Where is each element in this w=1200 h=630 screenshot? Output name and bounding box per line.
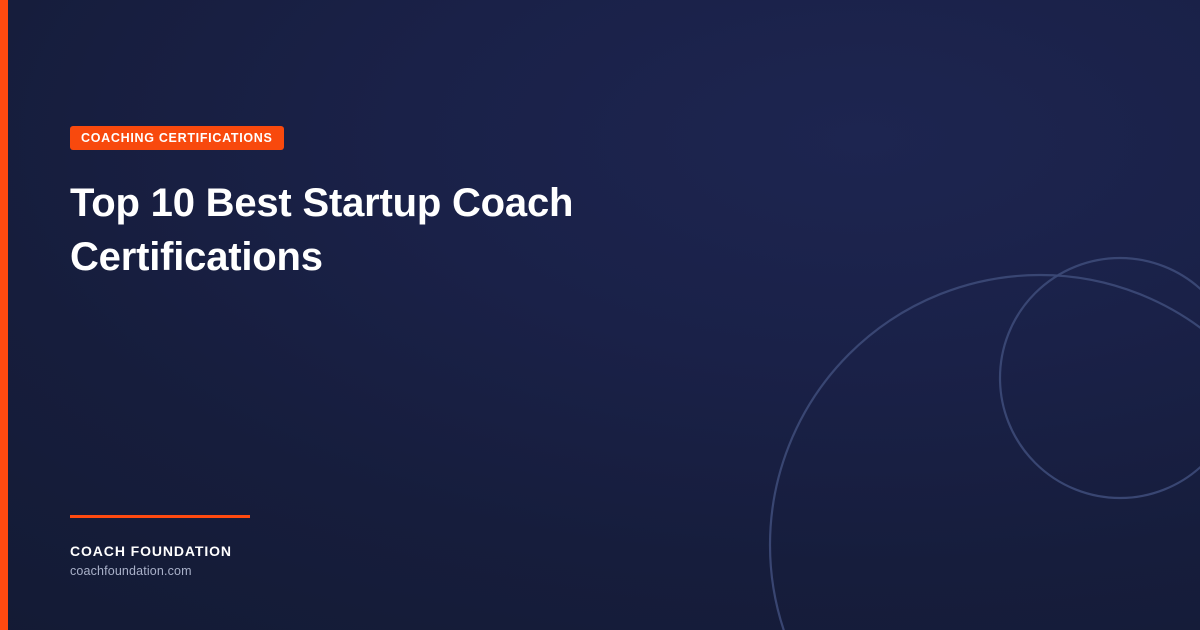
card-content: COACHING CERTIFICATIONS Top 10 Best Star… [0,0,1200,630]
page-title: Top 10 Best Startup Coach Certifications [70,176,710,284]
brand-name: COACH FOUNDATION [70,544,490,558]
category-badge: COACHING CERTIFICATIONS [70,126,284,150]
social-share-card: COACHING CERTIFICATIONS Top 10 Best Star… [0,0,1200,630]
footer-divider [70,515,250,518]
card-footer: COACH FOUNDATION coachfoundation.com [70,515,490,578]
left-accent-bar [0,0,8,630]
brand-url: coachfoundation.com [70,565,490,578]
